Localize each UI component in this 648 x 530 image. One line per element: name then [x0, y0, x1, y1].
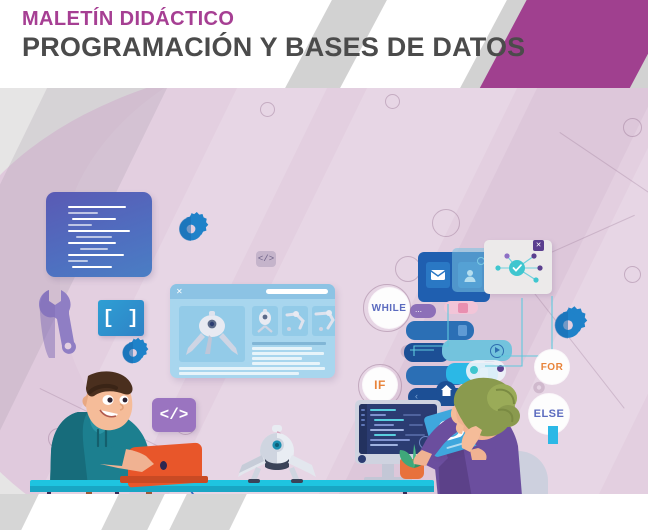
deco-circle-4	[260, 102, 275, 117]
header-kicker: MALETÍN DIDÁCTICO	[22, 8, 525, 31]
browser-window[interactable]: ✕	[170, 284, 335, 378]
code-window-card	[46, 192, 152, 277]
man-head	[68, 370, 146, 448]
ui-bar-3[interactable]	[442, 340, 512, 361]
browser-text-line-1	[252, 342, 326, 345]
header-banner: MALETÍN DIDÁCTICO PROGRAMACIÓN Y BASES D…	[0, 0, 648, 88]
laptop-logo	[160, 461, 167, 470]
code-tag-badge-small: </>	[256, 251, 276, 267]
browser-titlebar: ✕	[170, 284, 335, 299]
poster-cover: MALETÍN DIDÁCTICO PROGRAMACIÓN Y BASES D…	[0, 0, 648, 530]
deco-circle-2	[624, 266, 641, 283]
ui-chip-dot-2	[497, 365, 504, 372]
browser-text-line-4	[252, 357, 302, 360]
man-arm	[98, 444, 168, 486]
mail-icon	[426, 262, 450, 288]
browser-address-bar[interactable]	[266, 289, 328, 294]
chat-pill[interactable]: ⋯	[410, 304, 436, 318]
browser-thumbnail-3[interactable]	[312, 306, 335, 336]
close-icon[interactable]: ✕	[176, 288, 183, 295]
monitor-stand	[382, 464, 394, 478]
browser-text-line-3	[252, 352, 324, 355]
close-badge-1[interactable]: ✕	[533, 240, 544, 251]
woman-hand	[456, 418, 496, 458]
wrench-icon	[36, 288, 80, 358]
bottom-strip	[0, 494, 648, 530]
monitor-power-dot	[358, 455, 366, 463]
illustration-area: [ ]	[0, 88, 648, 530]
browser-text-line-7	[179, 372, 299, 375]
deco-circle-3	[385, 94, 400, 109]
keyword-bubble-if: IF	[363, 368, 397, 402]
page-title: PROGRAMACIÓN Y BASES DE DATOS	[22, 32, 525, 63]
header-text-block: MALETÍN DIDÁCTICO PROGRAMACIÓN Y BASES D…	[22, 8, 525, 63]
toggle-pill[interactable]	[444, 301, 478, 314]
keyword-bubble-for: FOR	[535, 350, 569, 384]
browser-hero-image	[179, 306, 245, 362]
browser-text-line-2	[252, 347, 312, 350]
ui-bar-1[interactable]	[406, 321, 474, 340]
robot	[236, 425, 318, 490]
deco-circle-6	[432, 209, 460, 237]
keyword-bubble-while: WHILE	[369, 288, 409, 328]
ui-chip-dot-1	[470, 366, 478, 374]
desk-edge	[30, 486, 434, 492]
deco-circle-1	[623, 118, 642, 137]
accent-tick	[548, 426, 558, 444]
browser-text-line-6	[179, 367, 325, 370]
browser-text-line-5	[252, 362, 320, 365]
bracket-card: [ ]	[98, 300, 144, 336]
browser-thumbnail-1[interactable]	[252, 306, 278, 336]
browser-thumbnail-2[interactable]	[282, 306, 308, 336]
